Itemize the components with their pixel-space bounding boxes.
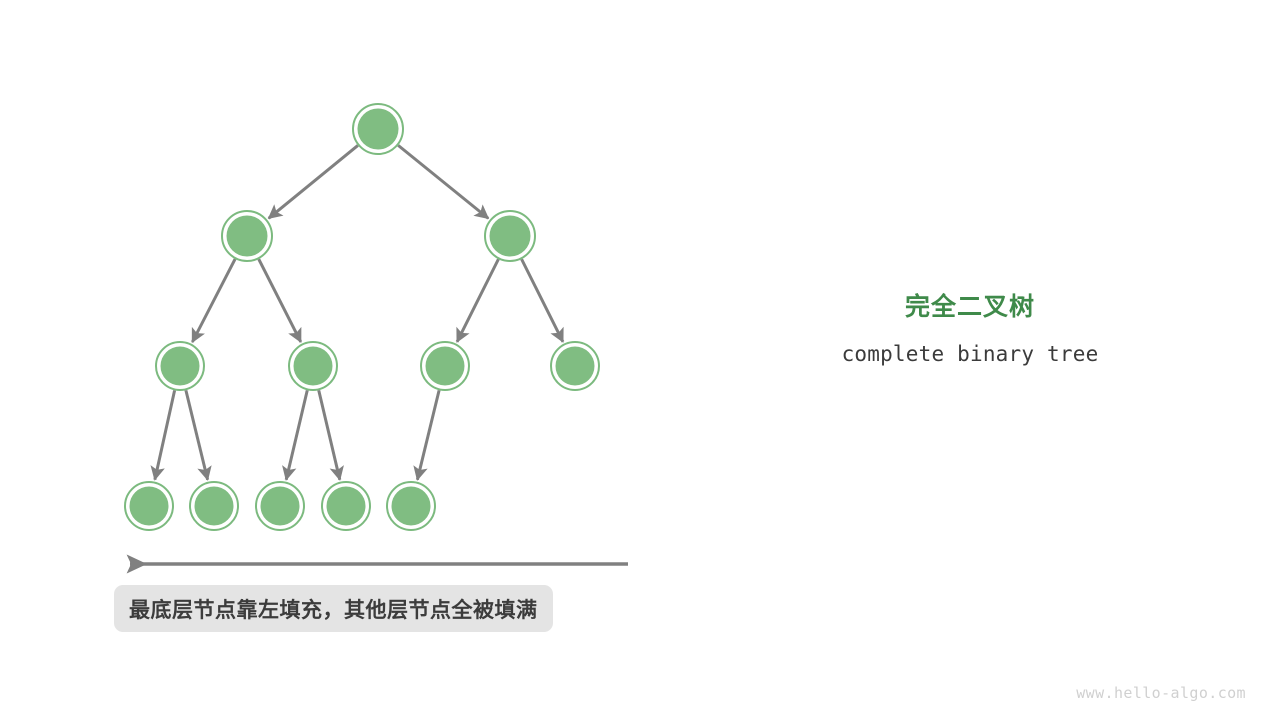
tree-node[interactable] [421,342,469,390]
tree-node[interactable] [256,482,304,530]
tree-node-disc [392,487,431,526]
tree-edge [155,390,175,479]
tree-node[interactable] [289,342,337,390]
tree-node-disc [490,216,531,257]
tree-node[interactable] [551,342,599,390]
tree-node[interactable] [485,211,535,261]
tree-node[interactable] [387,482,435,530]
diagram-stage: 完全二叉树 complete binary tree 最底层节点靠左填充，其他层… [0,0,1280,720]
tree-edge [319,390,340,479]
tree-edge [286,390,307,479]
tree-node-disc [294,347,333,386]
tree-edge-layer [155,145,563,479]
title-english: complete binary tree [810,342,1130,366]
tree-edge [192,259,235,342]
tree-node[interactable] [125,482,173,530]
tree-node-disc [161,347,200,386]
tree-node-disc [195,487,234,526]
tree-node[interactable] [156,342,204,390]
tree-edge [186,390,208,479]
tree-node-disc [327,487,366,526]
tree-edge [259,259,301,342]
title-chinese: 完全二叉树 [810,292,1130,323]
tree-edge [417,390,439,479]
tree-edge [457,259,498,342]
watermark: www.hello-algo.com [1076,684,1246,702]
tree-edge [522,259,563,342]
caption-text: 最底层节点靠左填充，其他层节点全被填满 [129,594,538,624]
tree-edge [398,145,488,218]
tree-node[interactable] [353,104,403,154]
tree-node-disc [130,487,169,526]
tree-node-disc [227,216,268,257]
tree-node-disc [358,109,399,150]
caption-box: 最底层节点靠左填充，其他层节点全被填满 [114,585,553,632]
tree-node[interactable] [190,482,238,530]
tree-node-disc [426,347,465,386]
tree-node[interactable] [222,211,272,261]
title-block: 完全二叉树 complete binary tree [810,292,1130,366]
tree-node-layer [125,104,599,530]
tree-node[interactable] [322,482,370,530]
tree-node-disc [556,347,595,386]
tree-edge [269,145,358,218]
tree-node-disc [261,487,300,526]
